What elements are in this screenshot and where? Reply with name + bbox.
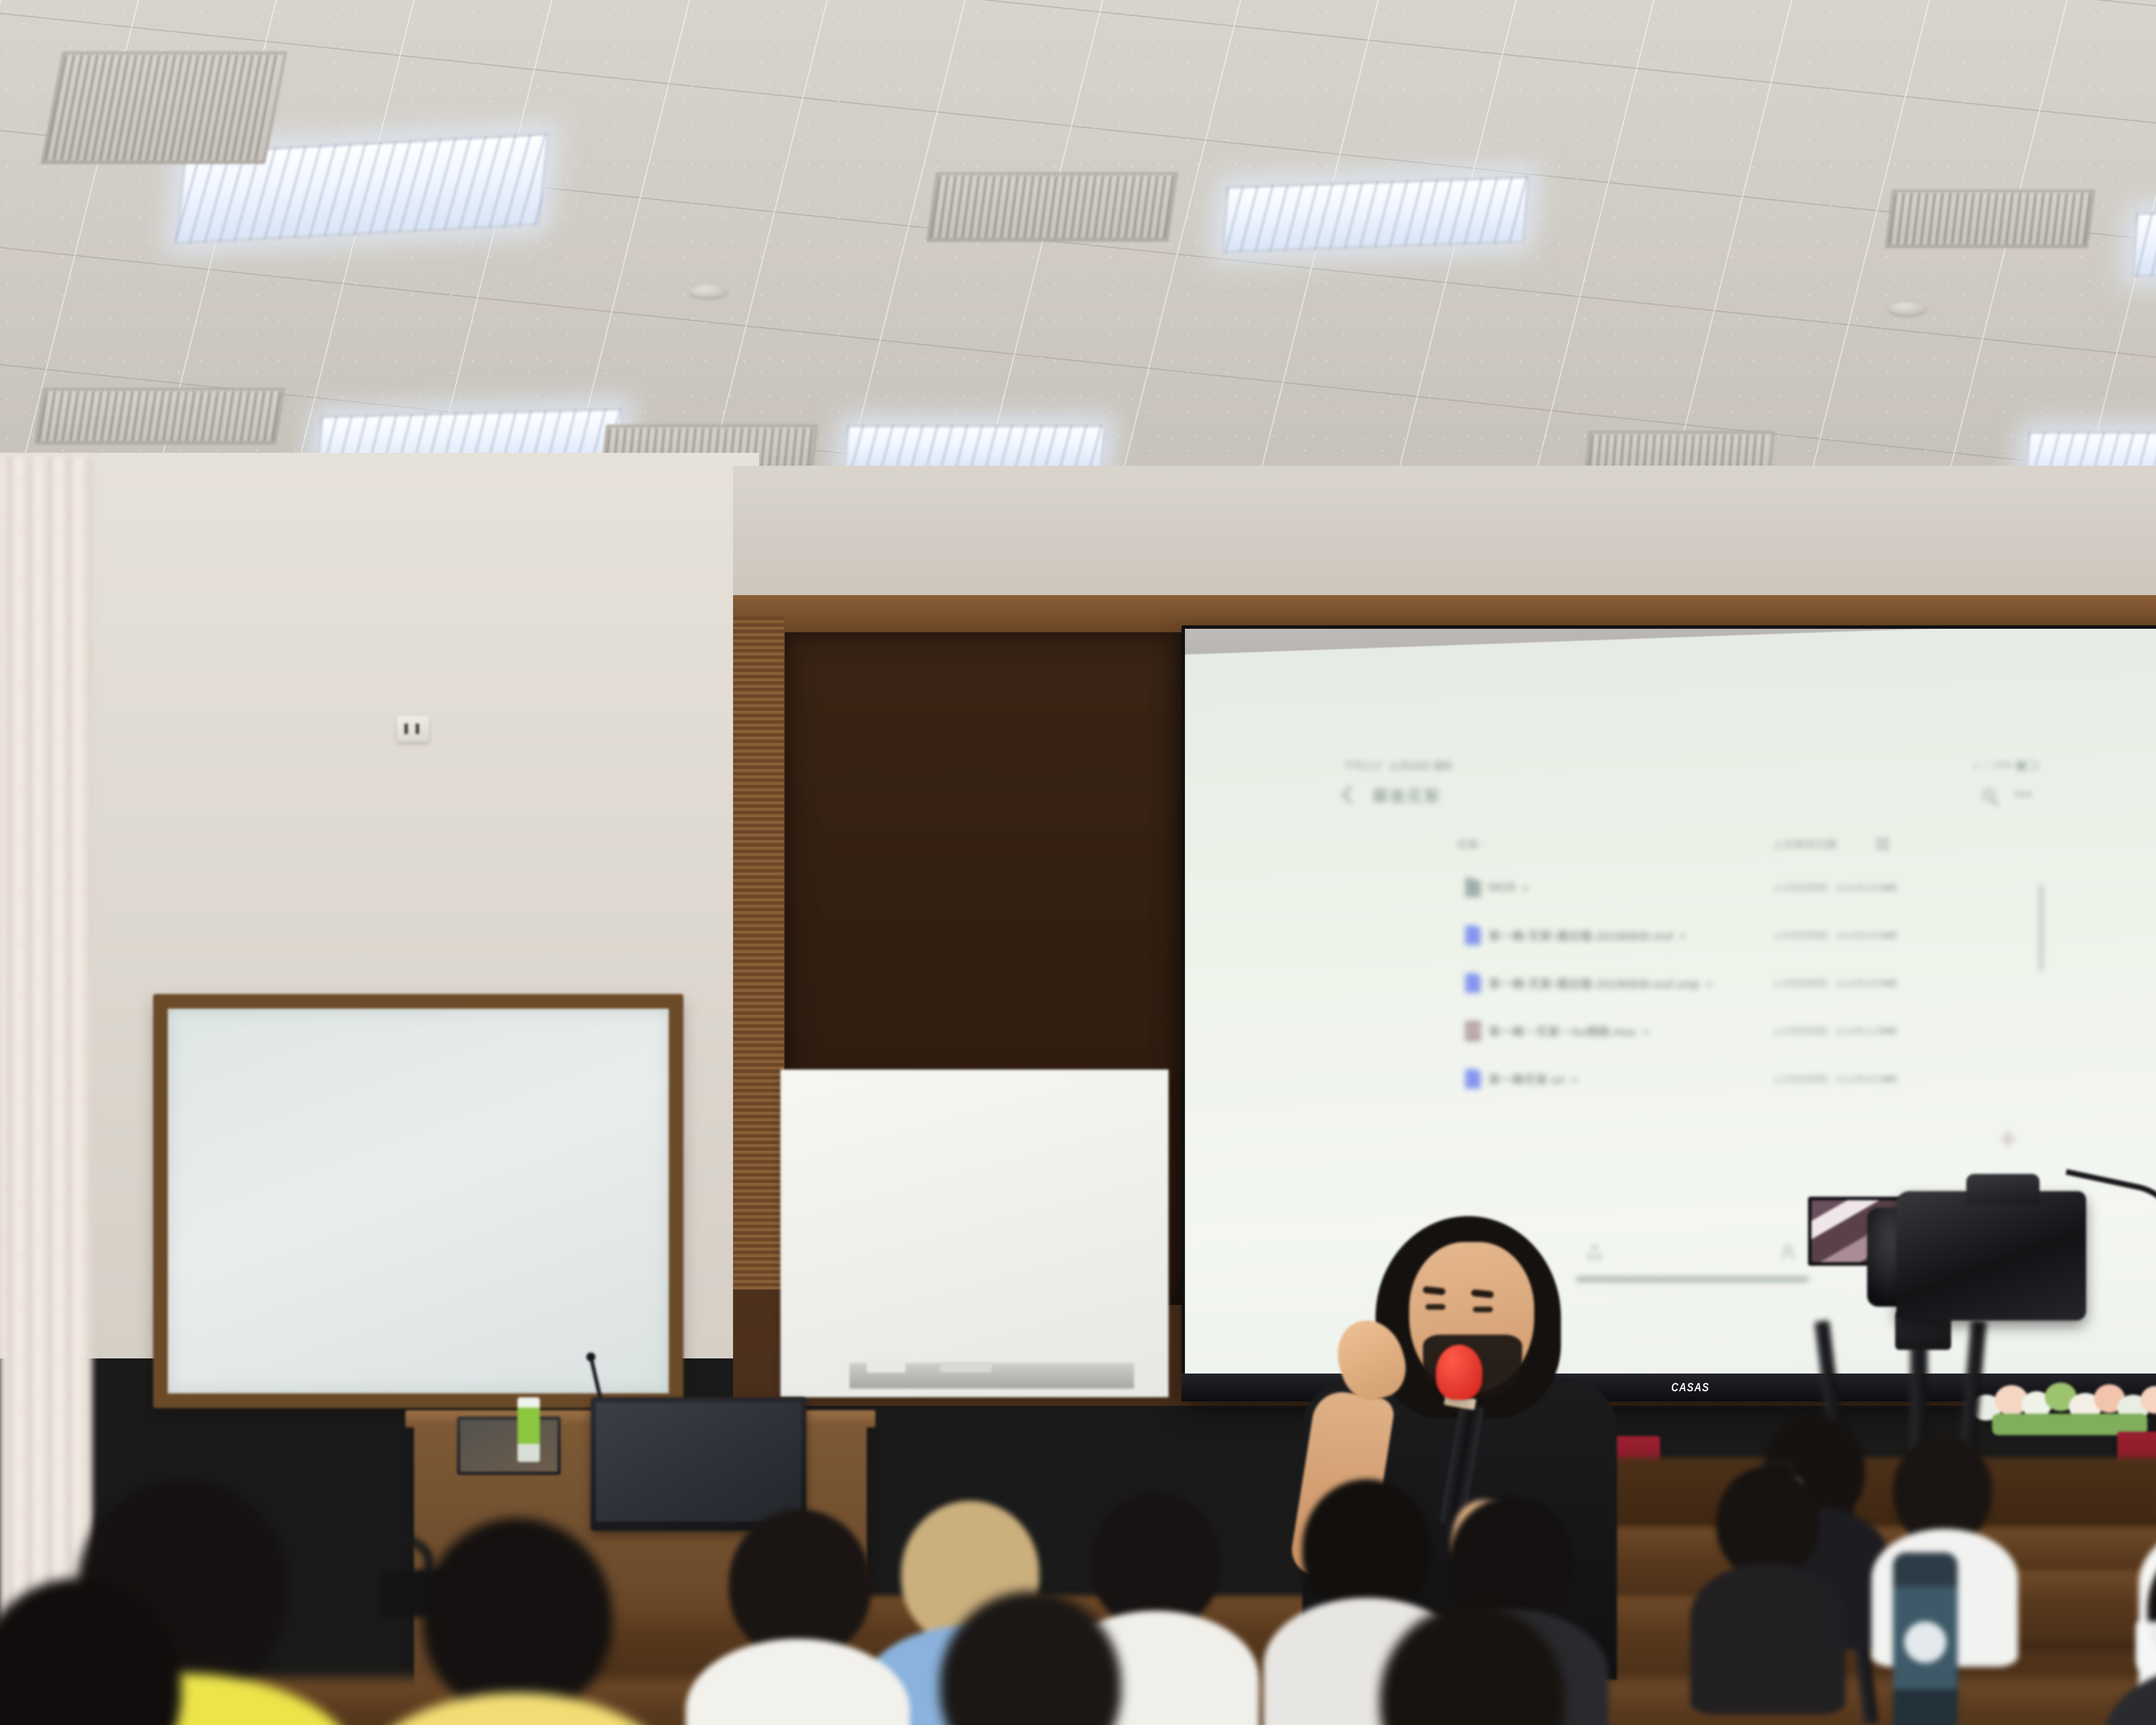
bottle-logo	[1904, 1621, 1946, 1663]
ceiling-light-panel	[1221, 176, 1530, 253]
ceiling-light-panel	[843, 425, 1106, 472]
battery-fill	[2018, 763, 2025, 768]
battery-icon	[2016, 761, 2036, 770]
file-date: 上次修改時間：2019年8月30日	[1772, 929, 1898, 942]
cloud-icon: ☁	[1570, 1074, 1579, 1084]
smoke-detector	[1889, 302, 1926, 315]
column-header-date[interactable]: 上次修改日期	[1772, 836, 1837, 852]
folder-title: 幕後花絮	[1372, 783, 1441, 806]
side-whiteboard	[780, 1069, 1169, 1397]
whiteboard-marker	[940, 1363, 992, 1372]
grid-view-icon[interactable]	[1877, 838, 1888, 850]
upper-right-wall	[733, 466, 2156, 608]
file-date: 上次修改時間：2019年8月28日	[1772, 1073, 1898, 1085]
ceiling-air-vent	[34, 388, 285, 444]
home-indicator[interactable]	[1576, 1277, 1809, 1282]
scrollbar[interactable]	[2039, 885, 2043, 971]
row-more-icon[interactable]: •••	[1881, 933, 1895, 938]
document-icon	[1465, 973, 1481, 993]
battery-tip	[2037, 765, 2038, 768]
plus-icon[interactable]	[2000, 1131, 2016, 1147]
wall-plate	[397, 716, 429, 742]
more-options-icon[interactable]: •••	[2015, 792, 2033, 798]
document-icon	[1465, 925, 1481, 945]
screen-brand-label: CASAS	[1671, 1380, 1710, 1394]
file-name: 0416	[1489, 881, 1515, 894]
list-item[interactable]: 第一鮪-花絮-播出檔-20190830.mxf ☁ 上次修改時間：2019年8月…	[1341, 911, 2044, 959]
people-icon[interactable]	[1782, 1245, 1797, 1260]
list-item[interactable]: 0416 ☁ 上次修改時間：2020年4月16日 •••	[1341, 863, 2044, 911]
sort-arrow-icon: ↑	[1481, 839, 1485, 849]
file-name: 第一鮪－花絮－for網路.mov	[1489, 1022, 1636, 1039]
share-icon[interactable]	[1588, 1245, 1601, 1260]
ceiling-air-vent	[927, 172, 1178, 241]
file-name: 第一鮪花絮.srt	[1489, 1070, 1565, 1087]
cloud-icon: ☁	[1678, 930, 1686, 940]
back-chevron-icon[interactable]	[1342, 786, 1360, 804]
list-item[interactable]: 第一鮪-花絮-播出檔-20190830.mxf.xmp ☁ 上次修改時間：201…	[1341, 959, 2044, 1007]
status-bar-right: ∾ ⎕ 37%	[1972, 760, 2036, 771]
movie-icon	[1465, 1021, 1481, 1041]
navigation-bar: 幕後花絮 •••	[1341, 780, 2044, 810]
list-item[interactable]: 第一鮪花絮.srt ☁ 上次修改時間：2019年8月28日 •••	[1341, 1055, 2044, 1103]
status-date: 11月26日 週四	[1389, 759, 1452, 772]
file-date: 上次修改時間：2020年4月16日	[1772, 881, 1898, 894]
cloud-icon: ☁	[1705, 978, 1713, 988]
podium-monitor-screen	[596, 1402, 801, 1521]
window-curtain	[0, 457, 93, 1699]
file-date: 上次修改時間：2019年12月5日	[1772, 1025, 1898, 1038]
lecture-hall-photo: 下午2:17 11月26日 週四 ∾ ⎕ 37% 幕後花絮 ••• 名稱 ↑	[0, 0, 2156, 1725]
file-date: 上次修改時間：2019年8月30日	[1772, 977, 1898, 990]
whiteboard	[153, 994, 683, 1408]
column-headers: 名稱 ↑ 上次修改日期	[1341, 831, 2044, 857]
status-bar-left: 下午2:17 11月26日 週四	[1344, 759, 1452, 772]
cloud-icon: ☁	[1520, 882, 1529, 892]
row-more-icon[interactable]: •••	[1881, 981, 1895, 986]
smoke-detector	[690, 285, 727, 298]
camera-viewfinder-hump	[1966, 1174, 2040, 1204]
row-more-icon[interactable]: •••	[1881, 1029, 1895, 1034]
column-header-name[interactable]: 名稱	[1457, 836, 1478, 852]
green-tea-bottle	[517, 1397, 540, 1462]
cloud-icon: ☁	[1642, 1026, 1650, 1036]
podium-monitor	[591, 1397, 806, 1531]
whiteboard-surface	[168, 1009, 669, 1393]
status-bar: 下午2:17 11月26日 週四 ∾ ⎕ 37%	[1341, 756, 2044, 775]
ceiling-air-vent	[41, 52, 287, 164]
folder-icon	[1465, 878, 1481, 897]
list-item[interactable]: 第一鮪－花絮－for網路.mov ☁ 上次修改時間：2019年12月5日 •••	[1341, 1007, 2044, 1055]
laptop[interactable]	[457, 1417, 561, 1475]
presenter-eye	[1473, 1307, 1493, 1312]
microphone-head	[1436, 1345, 1482, 1400]
file-name: 第一鮪-花絮-播出檔-20190830.mxf.xmp	[1489, 975, 1699, 991]
flower-arrangement	[1966, 1380, 2156, 1440]
search-icon[interactable]	[1983, 789, 1995, 801]
whiteboard-eraser	[867, 1361, 906, 1373]
wood-slat-panel	[733, 617, 784, 1289]
wifi-icon: ∾	[1972, 760, 1980, 771]
file-name: 第一鮪-花絮-播出檔-20190830.mxf	[1489, 927, 1673, 944]
ceiling-air-vent	[1885, 190, 2095, 248]
document-icon	[1465, 1069, 1481, 1089]
battery-percent: 37%	[1994, 761, 2012, 771]
screen-mirroring-icon: ⎕	[1984, 761, 1990, 771]
row-more-icon[interactable]: •••	[1881, 885, 1895, 890]
presenter-eye	[1426, 1304, 1445, 1310]
status-time: 下午2:17	[1344, 759, 1382, 772]
row-more-icon[interactable]: •••	[1881, 1076, 1895, 1082]
file-list: 0416 ☁ 上次修改時間：2020年4月16日 ••• 第一鮪-花絮-播出檔-…	[1341, 863, 2044, 1103]
